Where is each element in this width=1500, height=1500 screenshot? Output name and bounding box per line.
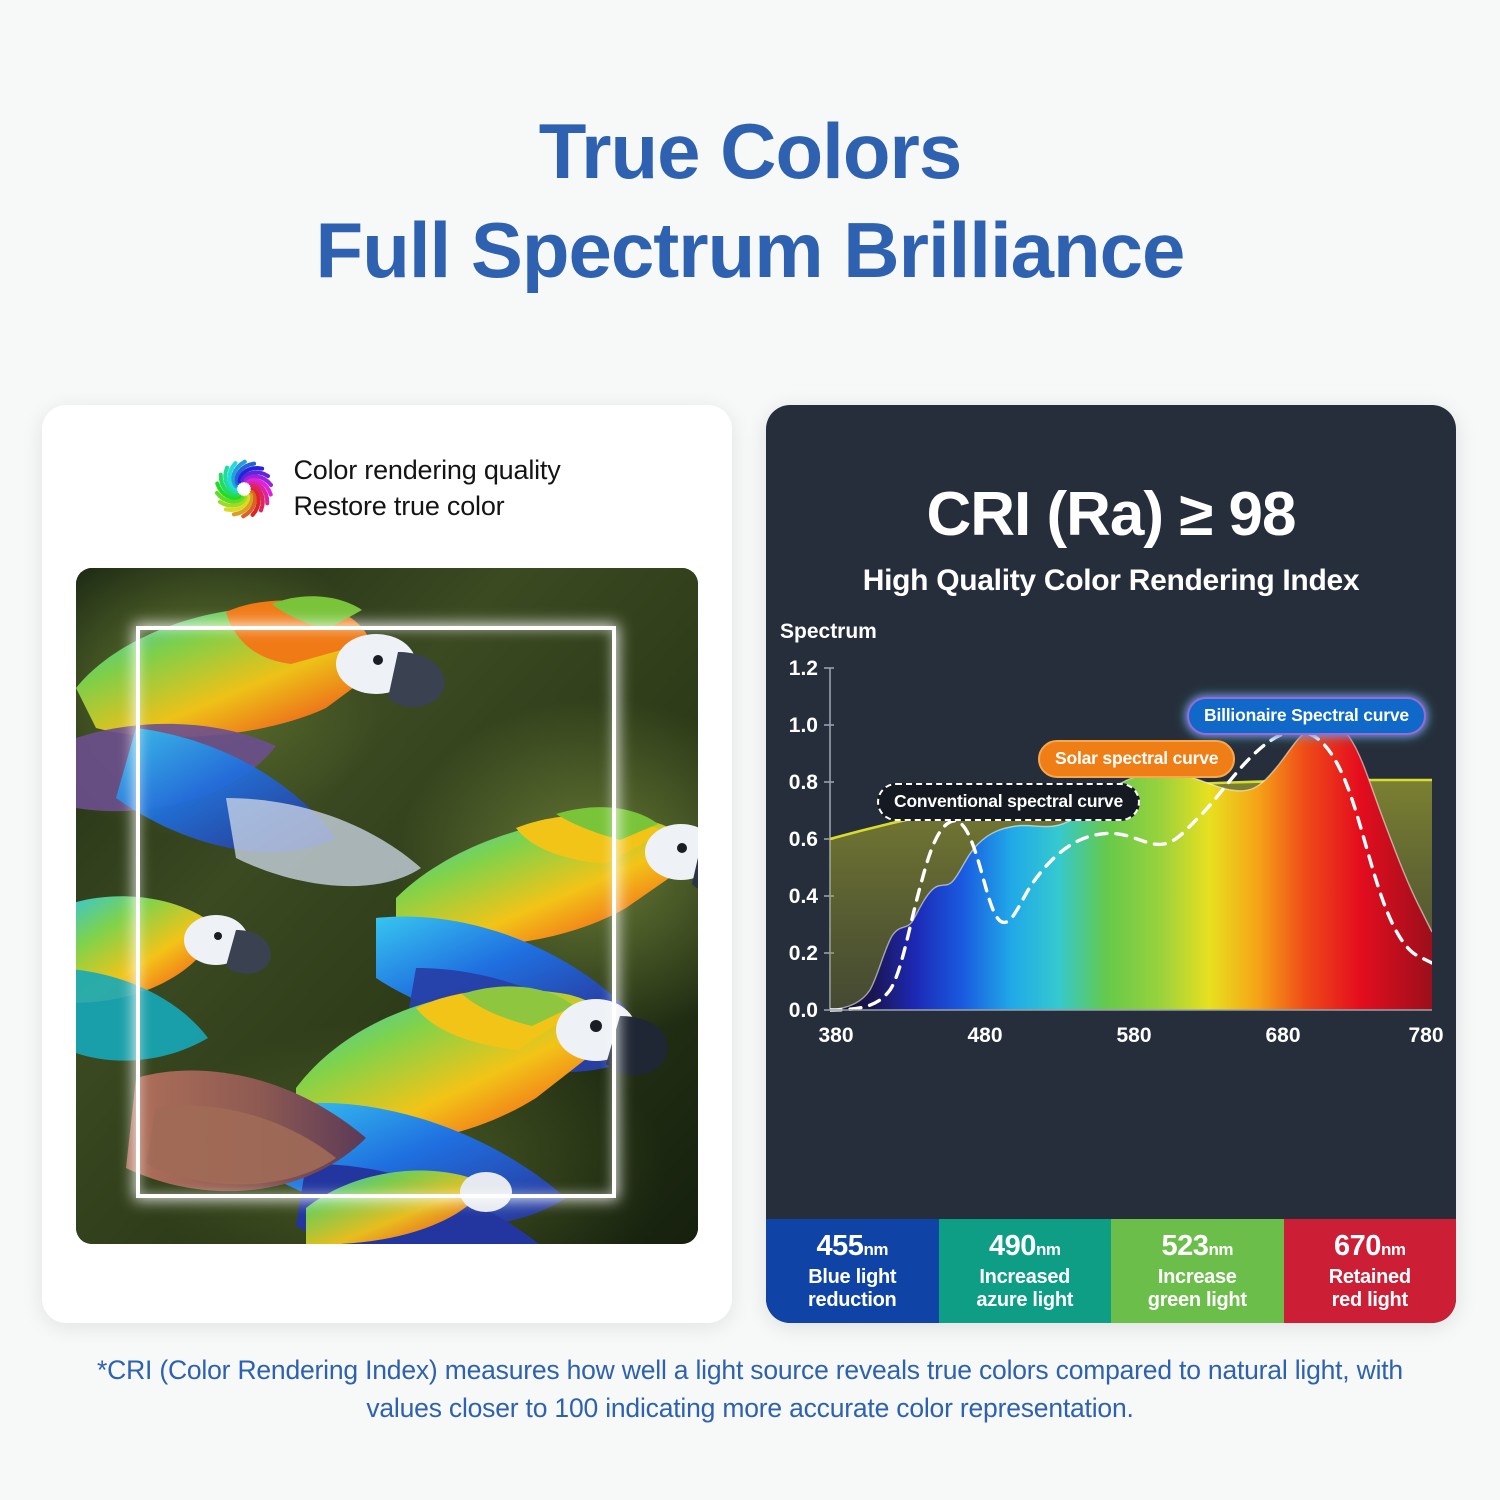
- legend-conventional-spectral-curve[interactable]: Conventional spectral curve: [877, 783, 1140, 821]
- swatch-455nm[interactable]: 455nm Blue light reduction: [766, 1219, 939, 1323]
- svg-text:580: 580: [1116, 1024, 1151, 1047]
- page-title-line-1: True Colors: [0, 108, 1500, 195]
- swatch-670nm-desc: Retained red light: [1329, 1266, 1411, 1312]
- svg-text:1.2: 1.2: [789, 657, 818, 680]
- svg-text:780: 780: [1408, 1024, 1443, 1047]
- color-rendering-card: Color rendering quality Restore true col…: [42, 405, 732, 1323]
- logo-row: Color rendering quality Restore true col…: [213, 453, 560, 524]
- color-pinwheel-icon: [213, 458, 275, 520]
- svg-text:0.2: 0.2: [789, 942, 818, 965]
- svg-text:480: 480: [967, 1024, 1002, 1047]
- legend-solar-spectral-curve[interactable]: Solar spectral curve: [1038, 740, 1235, 778]
- cri-chart-card: CRI (Ra) ≥ 98 High Quality Color Renderi…: [766, 405, 1456, 1323]
- page-title: True Colors Full Spectrum Brilliance: [0, 0, 1500, 295]
- page-title-line-2: Full Spectrum Brilliance: [0, 207, 1500, 294]
- svg-text:380: 380: [818, 1024, 853, 1047]
- parrot-photo: [76, 568, 698, 1244]
- svg-text:680: 680: [1265, 1024, 1300, 1047]
- cri-title: CRI (Ra) ≥ 98: [766, 479, 1456, 550]
- logo-text-line-2: Restore true color: [293, 489, 560, 525]
- svg-text:0.0: 0.0: [789, 999, 818, 1022]
- svg-text:0.6: 0.6: [789, 828, 818, 851]
- swatch-455nm-desc: Blue light reduction: [808, 1266, 896, 1312]
- swatch-670nm-value: 670nm: [1334, 1232, 1405, 1261]
- logo-text-line-1: Color rendering quality: [293, 453, 560, 489]
- swatch-455nm-value: 455nm: [817, 1232, 888, 1261]
- parrot-photo-image: [76, 568, 698, 1244]
- wavelength-swatch-row: 455nm Blue light reduction 490nm Increas…: [766, 1219, 1456, 1323]
- svg-text:0.4: 0.4: [789, 885, 819, 908]
- logo-text: Color rendering quality Restore true col…: [293, 453, 560, 524]
- swatch-670nm[interactable]: 670nm Retained red light: [1284, 1219, 1457, 1323]
- cards-row: Color rendering quality Restore true col…: [42, 405, 1458, 1323]
- cri-subtitle: High Quality Color Rendering Index: [766, 564, 1456, 598]
- chart-axis-title: Spectrum: [780, 620, 877, 644]
- svg-text:0.8: 0.8: [789, 771, 819, 794]
- svg-text:1.0: 1.0: [789, 714, 818, 737]
- legend-billionaire-spectral-curve[interactable]: Billionaire Spectral curve: [1187, 697, 1426, 735]
- swatch-490nm[interactable]: 490nm Increased azure light: [939, 1219, 1112, 1323]
- swatch-523nm-value: 523nm: [1162, 1232, 1233, 1261]
- footnote: *CRI (Color Rendering Index) measures ho…: [0, 1352, 1500, 1427]
- swatch-490nm-value: 490nm: [989, 1232, 1060, 1261]
- swatch-523nm[interactable]: 523nm Increase green light: [1111, 1219, 1284, 1323]
- swatch-523nm-desc: Increase green light: [1148, 1266, 1247, 1312]
- swatch-490nm-desc: Increased azure light: [976, 1266, 1073, 1312]
